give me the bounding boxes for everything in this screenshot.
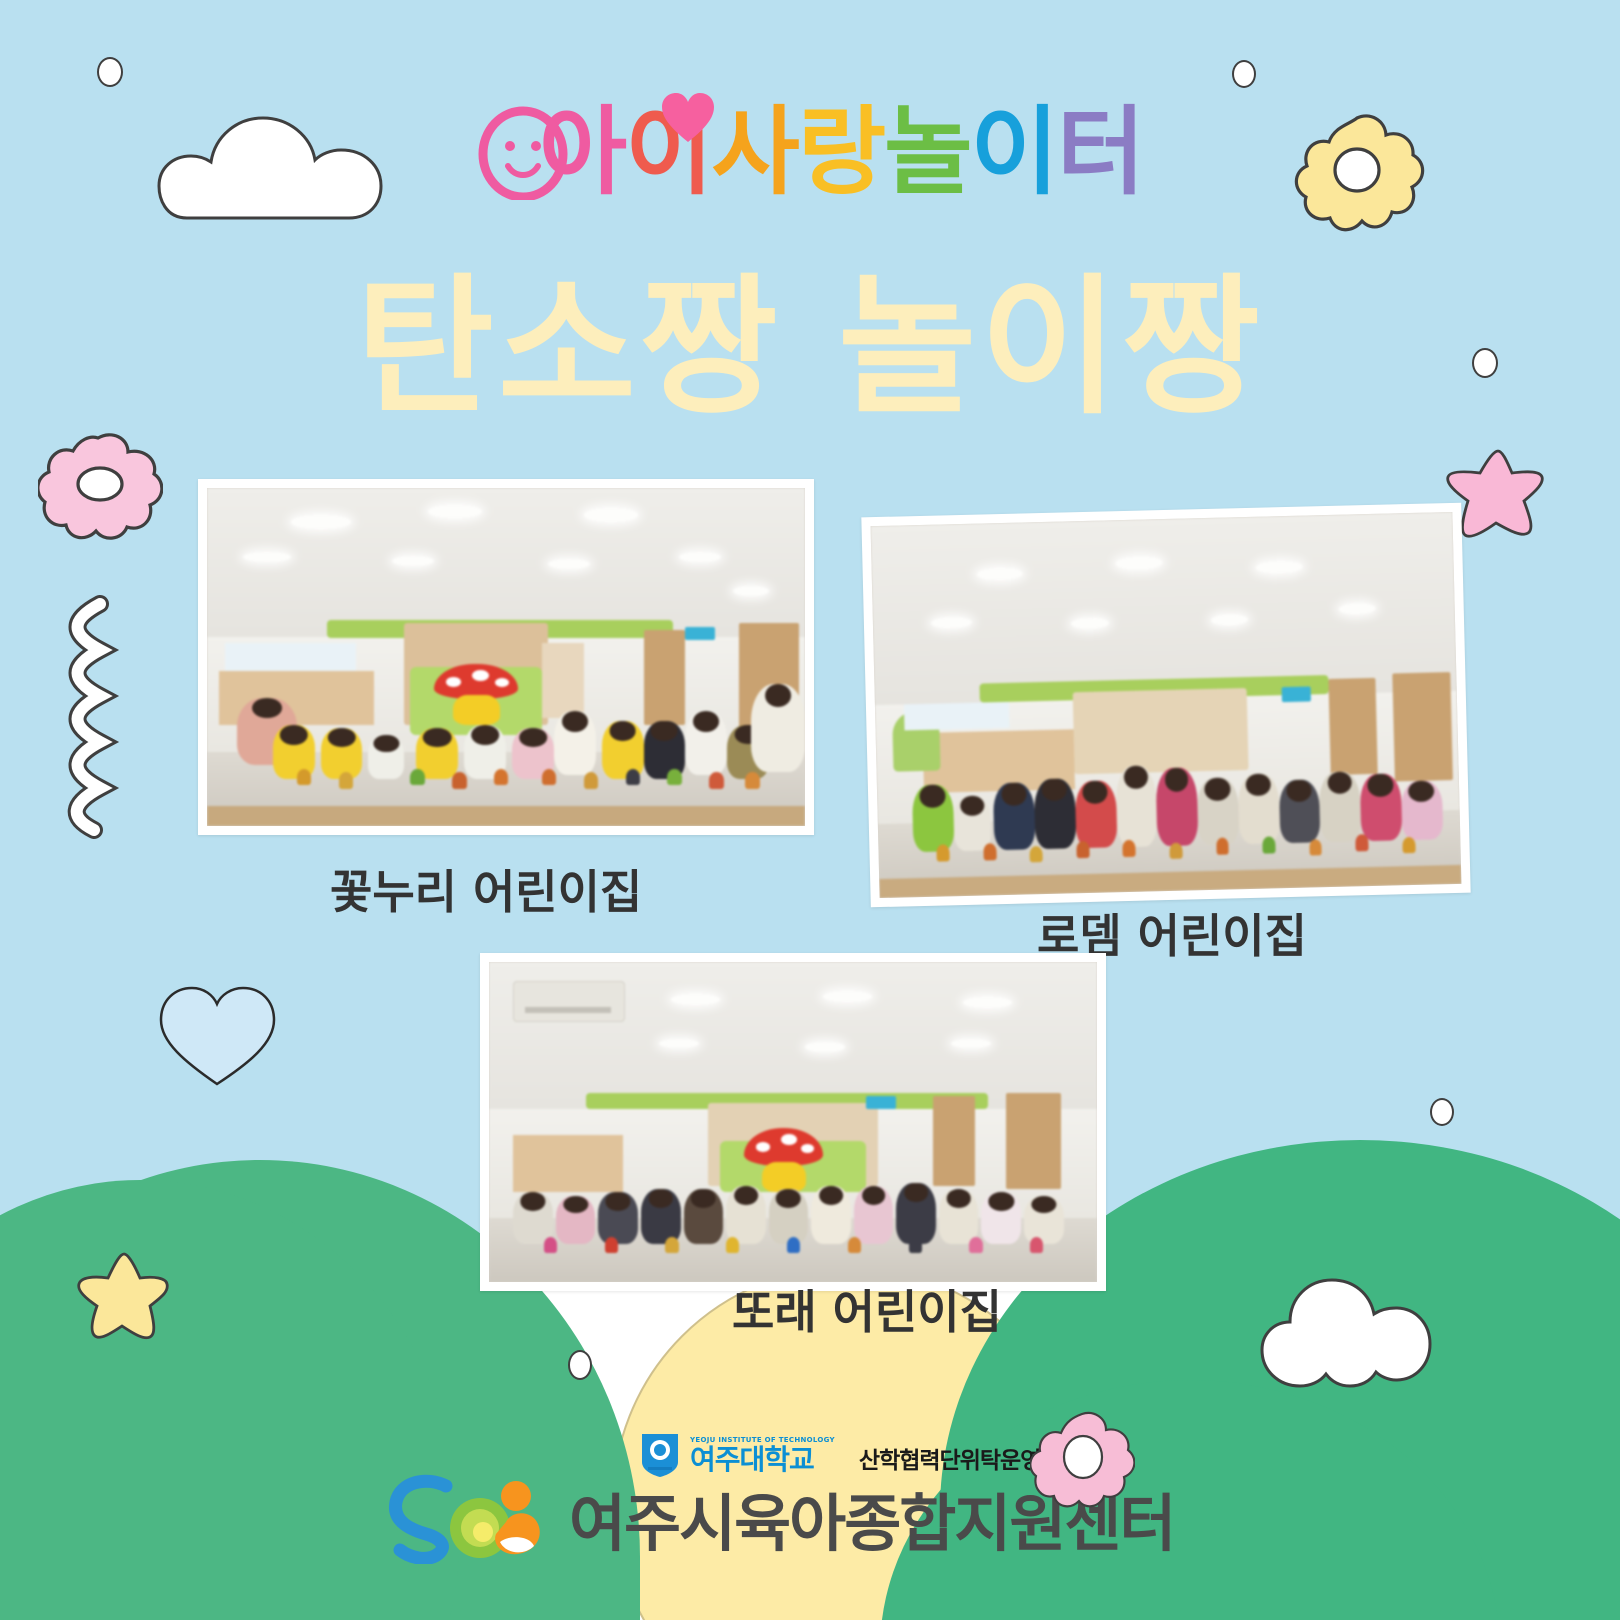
photo-image-kkotnuri — [207, 488, 805, 826]
poster-canvas: 아 이 사 랑 놀 이 터 탄소짱 놀이짱 — [0, 0, 1620, 1620]
photo-kkotnuri — [198, 479, 814, 835]
photo-ttorae — [480, 953, 1106, 1291]
flower-pink-left-icon — [38, 432, 163, 542]
photo-rodem — [861, 503, 1470, 908]
dot-icon-2 — [1232, 60, 1256, 88]
photo-image-rodem — [871, 512, 1462, 898]
squiggle-icon — [48, 590, 128, 840]
logo-char-6: 터 — [1057, 104, 1143, 200]
logo-char-5: 이 — [970, 104, 1056, 200]
brand-logo: 아 이 사 랑 놀 이 터 — [0, 104, 1620, 200]
logo-char-3: 랑 — [798, 104, 884, 200]
cloud-bottom-right-icon — [1250, 1270, 1435, 1390]
heart-blue-icon — [155, 980, 280, 1090]
photo-image-ttorae — [489, 962, 1097, 1282]
flower-pink-bottom-icon — [1030, 1410, 1135, 1515]
caption-ttorae: 또래 어린이집 — [732, 1276, 1002, 1342]
sc-swirl-logo-icon — [388, 1472, 563, 1564]
heart-icon — [660, 92, 716, 149]
logo-char-2: 사 — [712, 104, 798, 200]
smiley-face-icon — [477, 104, 573, 200]
caption-kkotnuri: 꽃누리 어린이집 — [330, 856, 642, 922]
university-names: YEOJU INSTITUTE OF TECHNOLOGY 여주대학교 — [690, 1437, 835, 1474]
dot-icon-5 — [568, 1350, 592, 1380]
university-korean-name: 여주대학교 — [690, 1446, 835, 1474]
dot-icon-1 — [97, 57, 123, 87]
page-title: 탄소짱 놀이짱 — [0, 262, 1620, 435]
dot-icon-4 — [1430, 1098, 1454, 1126]
star-yellow-icon — [72, 1248, 177, 1353]
logo-char-4: 놀 — [884, 104, 970, 200]
